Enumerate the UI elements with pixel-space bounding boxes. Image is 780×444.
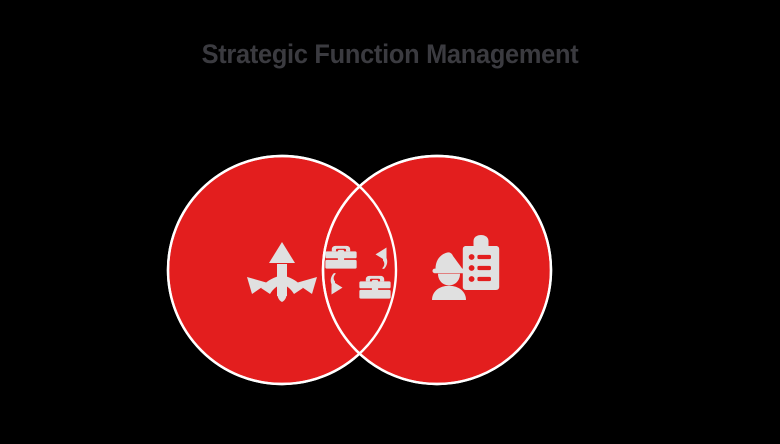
venn-diagram-svg xyxy=(0,0,780,444)
slide-canvas: Strategic Function Management xyxy=(0,0,780,444)
venn-diagram xyxy=(0,0,780,444)
